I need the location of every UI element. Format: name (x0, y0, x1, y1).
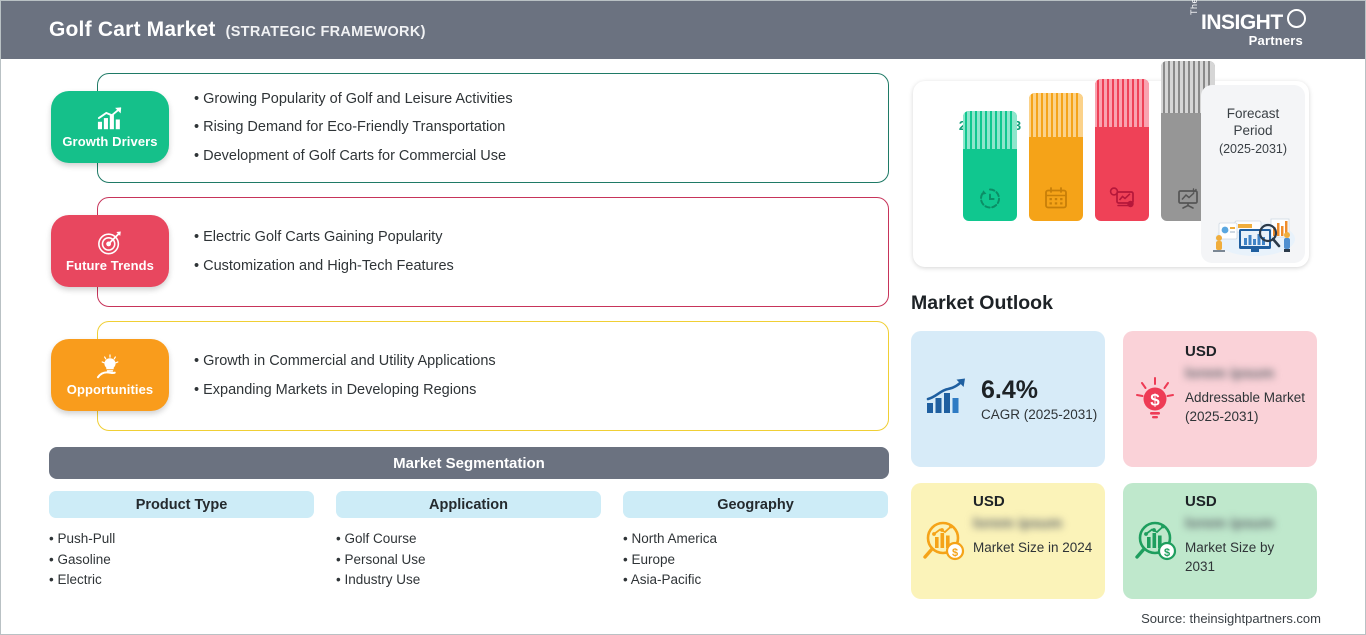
market-outlook-title: Market Outlook (911, 292, 1053, 315)
source-attribution: Source: theinsightpartners.com (1141, 611, 1321, 626)
list-item: Industry Use (336, 570, 601, 591)
lightbulb-dollar-icon: $ (1131, 375, 1179, 423)
bar-stripe-pattern (1095, 79, 1149, 127)
list-item: North America (623, 529, 888, 550)
market-segmentation-title: Market Segmentation (393, 455, 545, 472)
timeline-bar-fill: Estimated Year (1095, 79, 1149, 221)
badge-future-trends[interactable]: Future Trends (51, 215, 169, 287)
badge-label: Opportunities (67, 382, 154, 397)
segmentation-column-geography: Geography North America Europe Asia-Paci… (623, 491, 888, 591)
bullet-item: Customization and High-Tech Features (194, 258, 888, 275)
list-item: Push-Pull (49, 529, 314, 550)
bar-stripe-pattern (963, 111, 1017, 149)
svg-text:$: $ (1150, 391, 1160, 410)
outlook-card-caption: Addressable Market (2025-2031) (1185, 388, 1307, 426)
bullet-item: Growth in Commercial and Utility Applica… (194, 353, 888, 370)
outlook-card-caption: Market Size by 2031 (1185, 538, 1307, 576)
blurred-value: lorem ipsum (1185, 515, 1313, 532)
outlook-card-size2024-inner: $ USD lorem ipsum Market Size in 2024 (911, 483, 1105, 599)
blurred-value: lorem ipsum (1185, 365, 1313, 382)
badge-opportunities[interactable]: Opportunities (51, 339, 169, 411)
logo-ring-icon (1287, 9, 1306, 28)
forecast-line-2: Period (1233, 123, 1272, 138)
forecast-period-range: (2025-2031) (1219, 142, 1287, 156)
list-item: Europe (623, 550, 888, 571)
bullet-item: Rising Demand for Eco-Friendly Transport… (194, 119, 888, 136)
list-item: Gasoline (49, 550, 314, 571)
badge-label: Growth Drivers (62, 134, 157, 149)
list-item: Electric (49, 570, 314, 591)
forecast-timeline-panel: 2021-2023 (913, 81, 1309, 267)
bullet-item: Growing Popularity of Golf and Leisure A… (194, 91, 888, 108)
list-item: Asia-Pacific (623, 570, 888, 591)
segmentation-item-list: Golf Course Personal Use Industry Use (336, 529, 601, 591)
bar-chart-arrow-icon (95, 106, 125, 132)
infographic-page: Golf Cart Market (STRATEGIC FRAMEWORK) T… (0, 0, 1366, 635)
badge-label: Future Trends (66, 258, 154, 273)
growth-bar-chart-icon (925, 377, 969, 422)
panel-growth-drivers-body: Growing Popularity of Golf and Leisure A… (194, 74, 888, 182)
currency-label: USD (973, 493, 1095, 510)
logo-the-text: The (1189, 0, 1199, 15)
outlook-card-cagr-inner: 6.4% CAGR (2025-2031) (911, 331, 1105, 467)
panel-opportunities-body: Growth in Commercial and Utility Applica… (194, 322, 888, 430)
insight-partners-logo: The INSIGHT Partners (1189, 9, 1309, 53)
segmentation-column-title: Application (336, 491, 601, 518)
page-title: Golf Cart Market (49, 18, 216, 42)
panel-future-trends: Electric Golf Carts Gaining Popularity C… (97, 197, 889, 307)
forecast-gear-icon (1108, 185, 1136, 211)
clock-history-icon (976, 185, 1004, 211)
panel-opportunities: Growth in Commercial and Utility Applica… (97, 321, 889, 431)
bar-stripe-pattern (1029, 93, 1083, 137)
calendar-icon (1042, 185, 1070, 211)
currency-label: USD (1185, 343, 1307, 360)
list-item: Golf Course (336, 529, 601, 550)
outlook-card-market-size-2031: $ USD lorem ipsum Market Size by 2031 (1123, 483, 1317, 599)
bullet-item: Development of Golf Carts for Commercial… (194, 148, 888, 165)
cagr-value: 6.4% (981, 376, 1097, 404)
lightbulb-hand-icon (95, 354, 125, 380)
segmentation-item-list: Push-Pull Gasoline Electric (49, 529, 314, 591)
analytics-team-illustration (1205, 205, 1301, 257)
outlook-card-size2031-inner: $ USD lorem ipsum Market Size by 2031 (1123, 483, 1317, 599)
timeline-bar-fill: Base Year (1029, 93, 1083, 221)
outlook-card-market-size-2024: $ USD lorem ipsum Market Size in 2024 (911, 483, 1105, 599)
forecast-line-1: Forecast (1227, 106, 1280, 121)
timeline-bar-fill: Historical Years (963, 111, 1017, 221)
market-segmentation-header: Market Segmentation (49, 447, 889, 479)
outlook-card-cagr: 6.4% CAGR (2025-2031) (911, 331, 1105, 467)
svg-text:$: $ (952, 547, 958, 559)
logo-partners-text: Partners (1249, 33, 1303, 48)
page-header: Golf Cart Market (STRATEGIC FRAMEWORK) T… (1, 1, 1365, 59)
segmentation-item-list: North America Europe Asia-Pacific (623, 529, 888, 591)
header-title-wrap: Golf Cart Market (STRATEGIC FRAMEWORK) (49, 18, 426, 42)
segmentation-column-product-type: Product Type Push-Pull Gasoline Electric (49, 491, 314, 591)
target-dart-icon (95, 230, 125, 256)
svg-text:$: $ (1164, 547, 1170, 559)
page-subtitle: (STRATEGIC FRAMEWORK) (226, 24, 426, 40)
panel-future-trends-body: Electric Golf Carts Gaining Popularity C… (194, 198, 888, 306)
forecast-period-panel: Forecast Period (2025-2031) (1201, 85, 1305, 263)
segmentation-column-title: Geography (623, 491, 888, 518)
timeline-bars: 2021-2023 (927, 81, 1197, 267)
outlook-card-caption: Market Size in 2024 (973, 538, 1095, 557)
outlook-card-addressable-market: $ USD lorem ipsum Addressable Market (20… (1123, 331, 1317, 467)
outlook-card-addressable-inner: $ USD lorem ipsum Addressable Market (20… (1123, 331, 1317, 467)
magnifier-chart-dollar-icon: $ (919, 517, 967, 565)
presentation-chart-icon (1174, 185, 1202, 211)
forecast-period-label: Forecast Period (1227, 105, 1280, 139)
magnifier-chart-dollar-icon: $ (1131, 517, 1179, 565)
currency-label: USD (1185, 493, 1307, 510)
cagr-caption: CAGR (2025-2031) (981, 407, 1097, 422)
blurred-value: lorem ipsum (973, 515, 1101, 532)
list-item: Personal Use (336, 550, 601, 571)
panel-growth-drivers: Growing Popularity of Golf and Leisure A… (97, 73, 889, 183)
bullet-item: Expanding Markets in Developing Regions (194, 382, 888, 399)
outlook-card-cagr-text: 6.4% CAGR (2025-2031) (981, 376, 1097, 422)
segmentation-column-title: Product Type (49, 491, 314, 518)
bullet-item: Electric Golf Carts Gaining Popularity (194, 229, 888, 246)
badge-growth-drivers[interactable]: Growth Drivers (51, 91, 169, 163)
segmentation-column-application: Application Golf Course Personal Use Ind… (336, 491, 601, 591)
logo-insight-text: INSIGHT (1201, 11, 1283, 35)
